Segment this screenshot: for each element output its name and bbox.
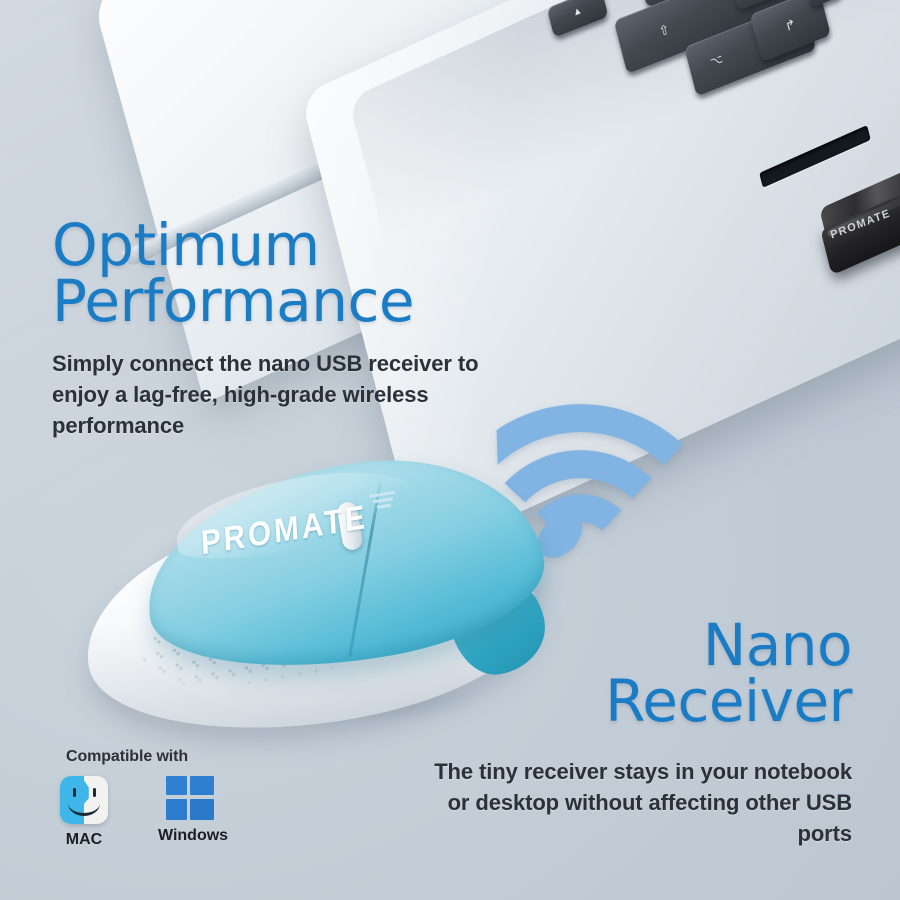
finder-icon <box>60 776 108 824</box>
heading-line-2: Performance <box>52 274 414 330</box>
compatibility-title: Compatible with <box>66 748 222 766</box>
compatibility-section: Compatible with MAC Windows <box>52 748 222 849</box>
product-marketing-image: ▲ ▲ ▼ ▲ ↵ ⇧ – ⌥ ↱ ⚡ PROMATE <box>0 0 900 900</box>
optimum-performance-body: Simply connect the nano USB receiver to … <box>52 348 532 442</box>
heading-line-2: Receiver <box>605 674 852 730</box>
nano-receiver-heading: Nano Receiver <box>605 618 852 729</box>
compat-item-mac: MAC <box>52 776 116 849</box>
nano-receiver-body: The tiny receiver stays in your notebook… <box>432 756 852 850</box>
wireless-mouse: PROMATE <box>78 466 558 746</box>
compat-label-mac: MAC <box>52 831 116 849</box>
compat-item-windows: Windows <box>158 776 222 845</box>
optimum-performance-heading: Optimum Performance <box>52 218 414 329</box>
key-arrow-left: ▲ <box>547 0 609 38</box>
windows-icon <box>166 776 214 820</box>
compat-label-windows: Windows <box>158 827 222 845</box>
